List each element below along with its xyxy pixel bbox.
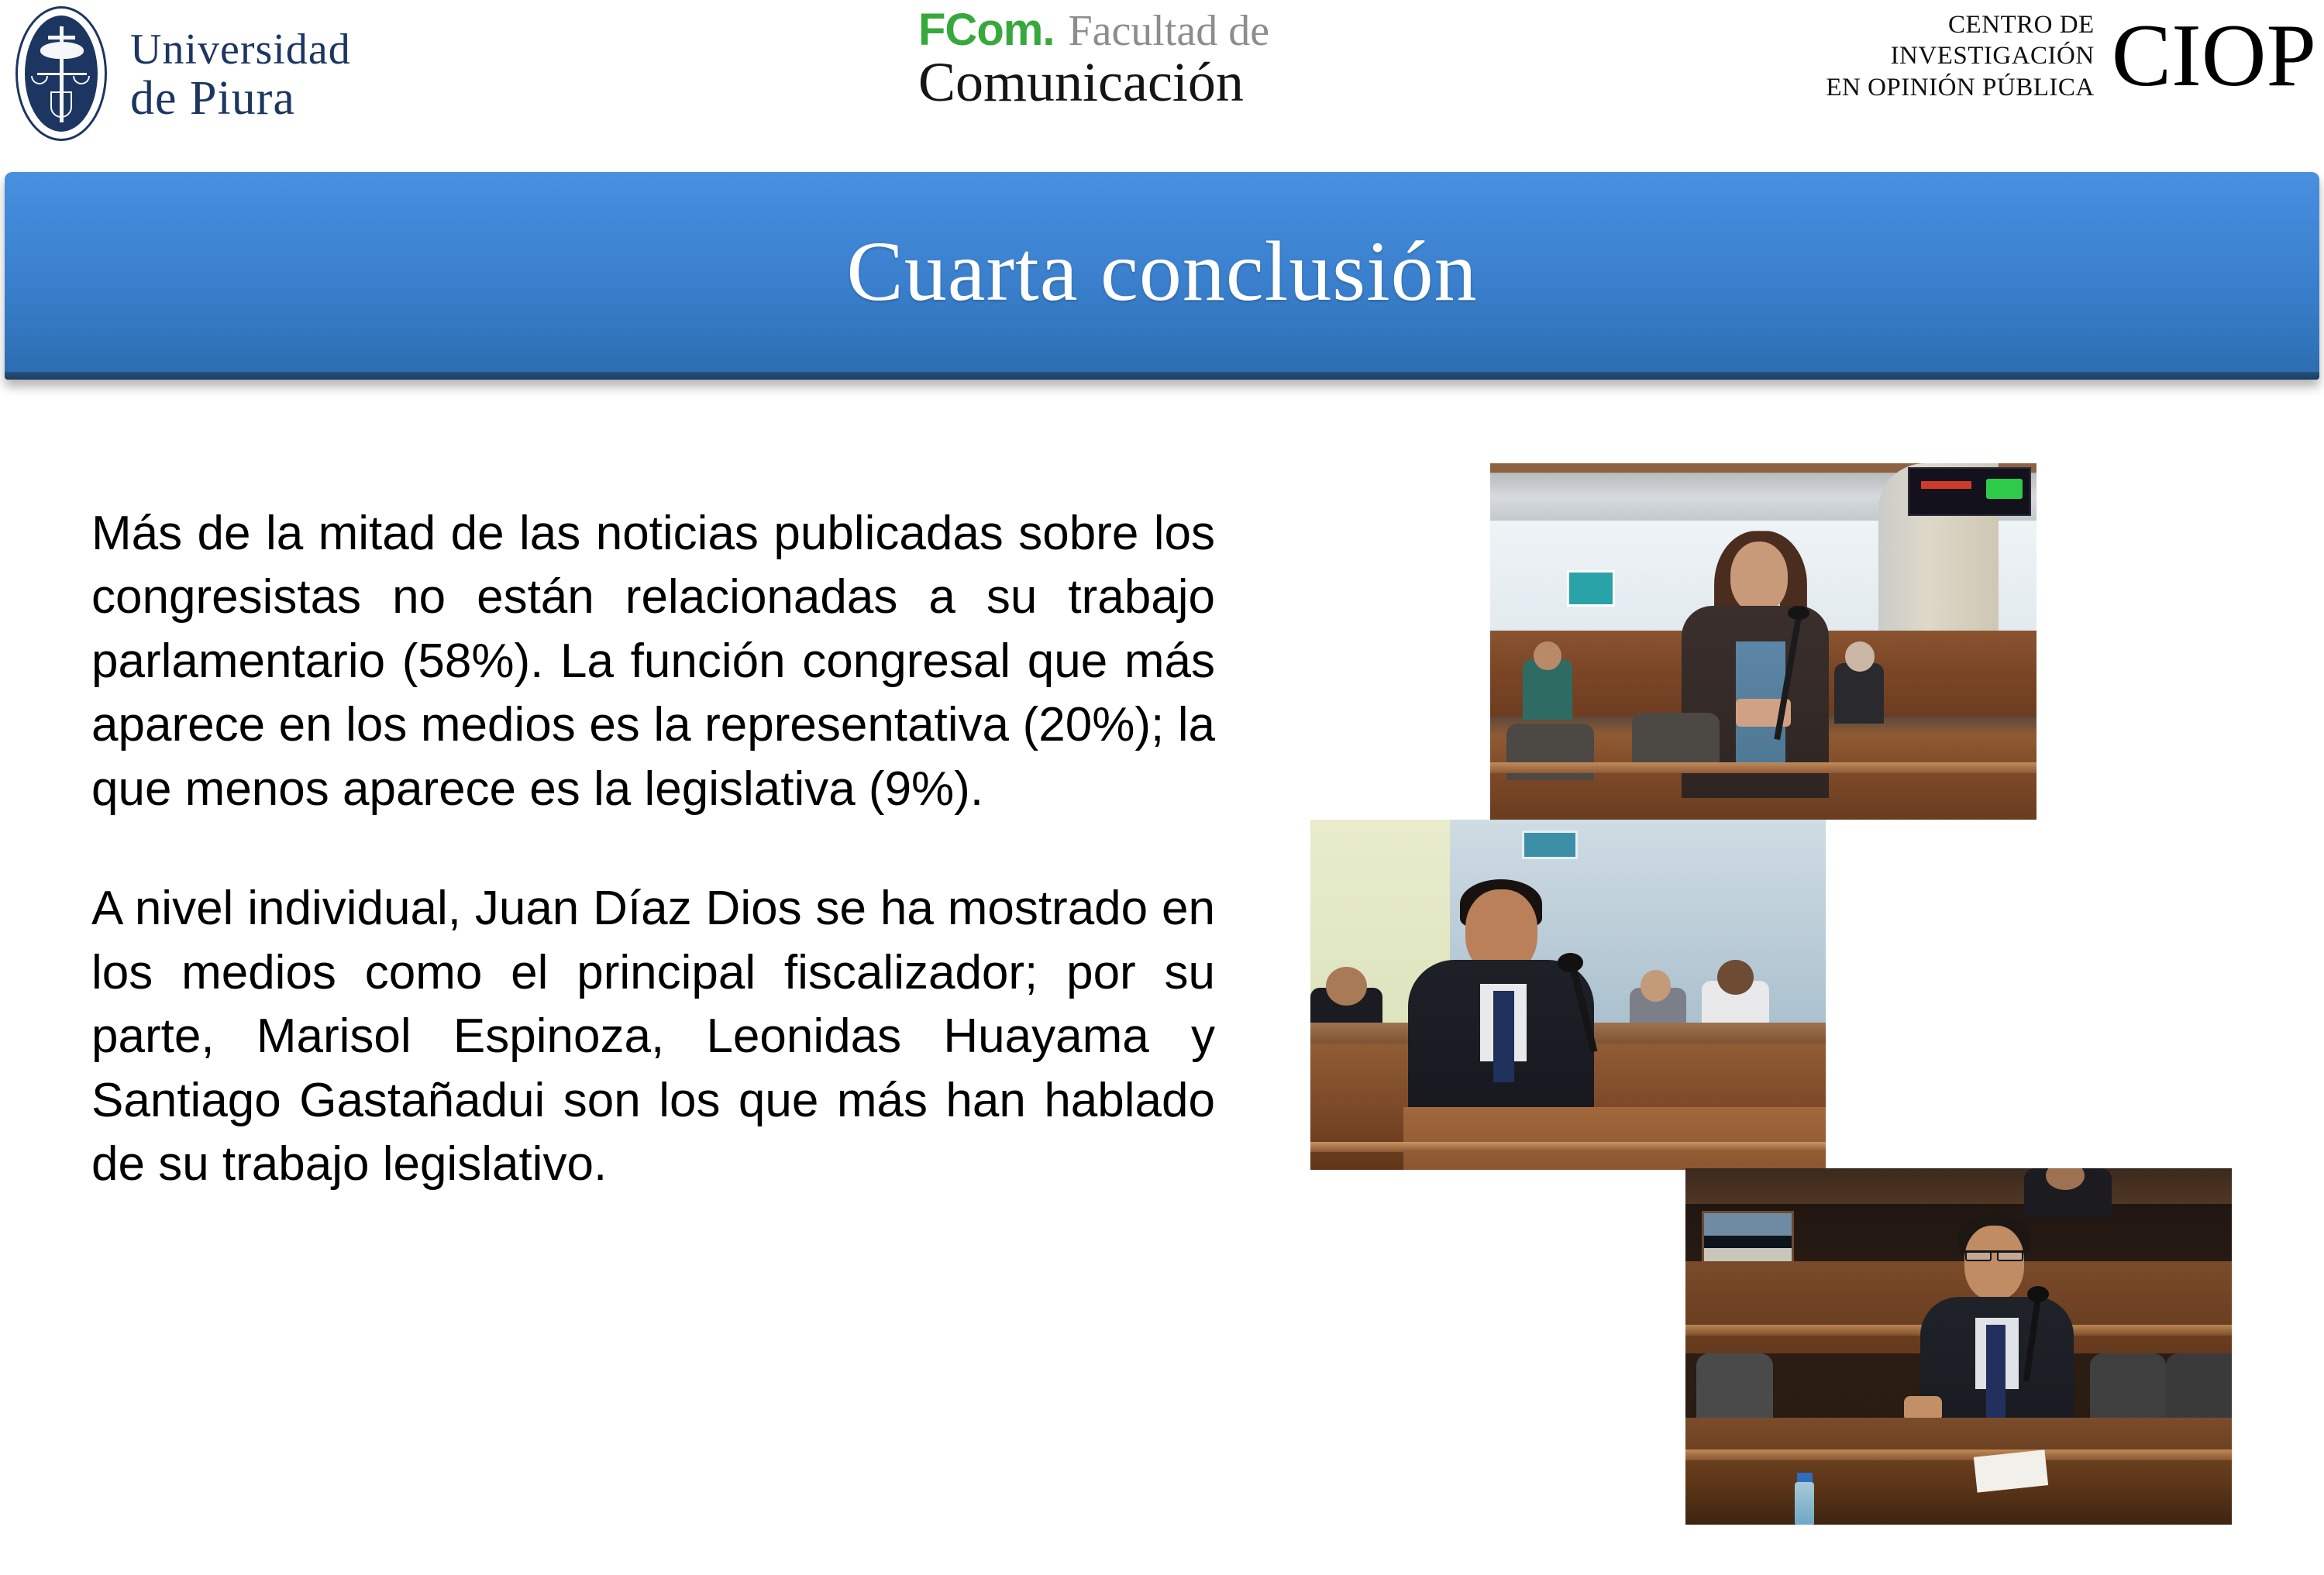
universidad-de-piura-logo: Universidad de Piura	[15, 6, 351, 144]
slide-body-text: Más de la mitad de las noticias publicad…	[91, 502, 1215, 1197]
exit-sign-icon	[1567, 570, 1615, 607]
udep-line-1: Universidad	[130, 28, 351, 71]
ciop-acronym: CIOP	[2112, 11, 2316, 101]
ciop-subtitle-block: CENTRO DE INVESTIGACIÓN EN OPINIÓN PÚBLI…	[1826, 9, 2094, 103]
photo-congressman-glasses	[1685, 1168, 2232, 1525]
chamber-screen	[1702, 1211, 1794, 1265]
microphone-icon	[1558, 953, 1583, 972]
microphone-icon	[2027, 1286, 2049, 1302]
facultad-de-comunicacion-logo: FCom. Facultad de Comunicación	[918, 8, 1269, 110]
header-logo-bar: Universidad de Piura FCom. Facultad de C…	[0, 0, 2324, 172]
fcom-subtitle: Facultad de	[1068, 9, 1269, 53]
universidad-de-piura-seal-icon	[15, 6, 110, 144]
ciop-logo: CENTRO DE INVESTIGACIÓN EN OPINIÓN PÚBLI…	[1826, 9, 2316, 103]
photo-congresswoman-speaking	[1490, 463, 2037, 820]
universidad-de-piura-wordmark: Universidad de Piura	[130, 28, 351, 122]
paragraph-1: Más de la mitad de las noticias publicad…	[91, 502, 1215, 821]
ciop-line-1: CENTRO DE	[1826, 9, 2094, 40]
eyeglasses-icon	[1964, 1250, 2025, 1264]
paragraph-2: A nivel individual, Juan Díaz Dios se ha…	[91, 877, 1215, 1196]
page-title: Cuarta conclusión	[846, 229, 1477, 314]
photo-congressman-dark-suit	[1310, 820, 1826, 1170]
chamber-timer-display	[1908, 467, 2031, 517]
fcom-main-title: Comunicación	[918, 54, 1269, 110]
fcom-mark: FCom.	[918, 8, 1054, 53]
ciop-line-2: INVESTIGACIÓN	[1826, 40, 2094, 71]
slide-title-banner: Cuarta conclusión	[5, 172, 2319, 380]
ciop-line-3: EN OPINIÓN PÚBLICA	[1826, 72, 2094, 103]
udep-line-2: de Piura	[130, 74, 351, 122]
document-sheet	[1973, 1449, 2047, 1492]
water-bottle	[1795, 1482, 1814, 1525]
